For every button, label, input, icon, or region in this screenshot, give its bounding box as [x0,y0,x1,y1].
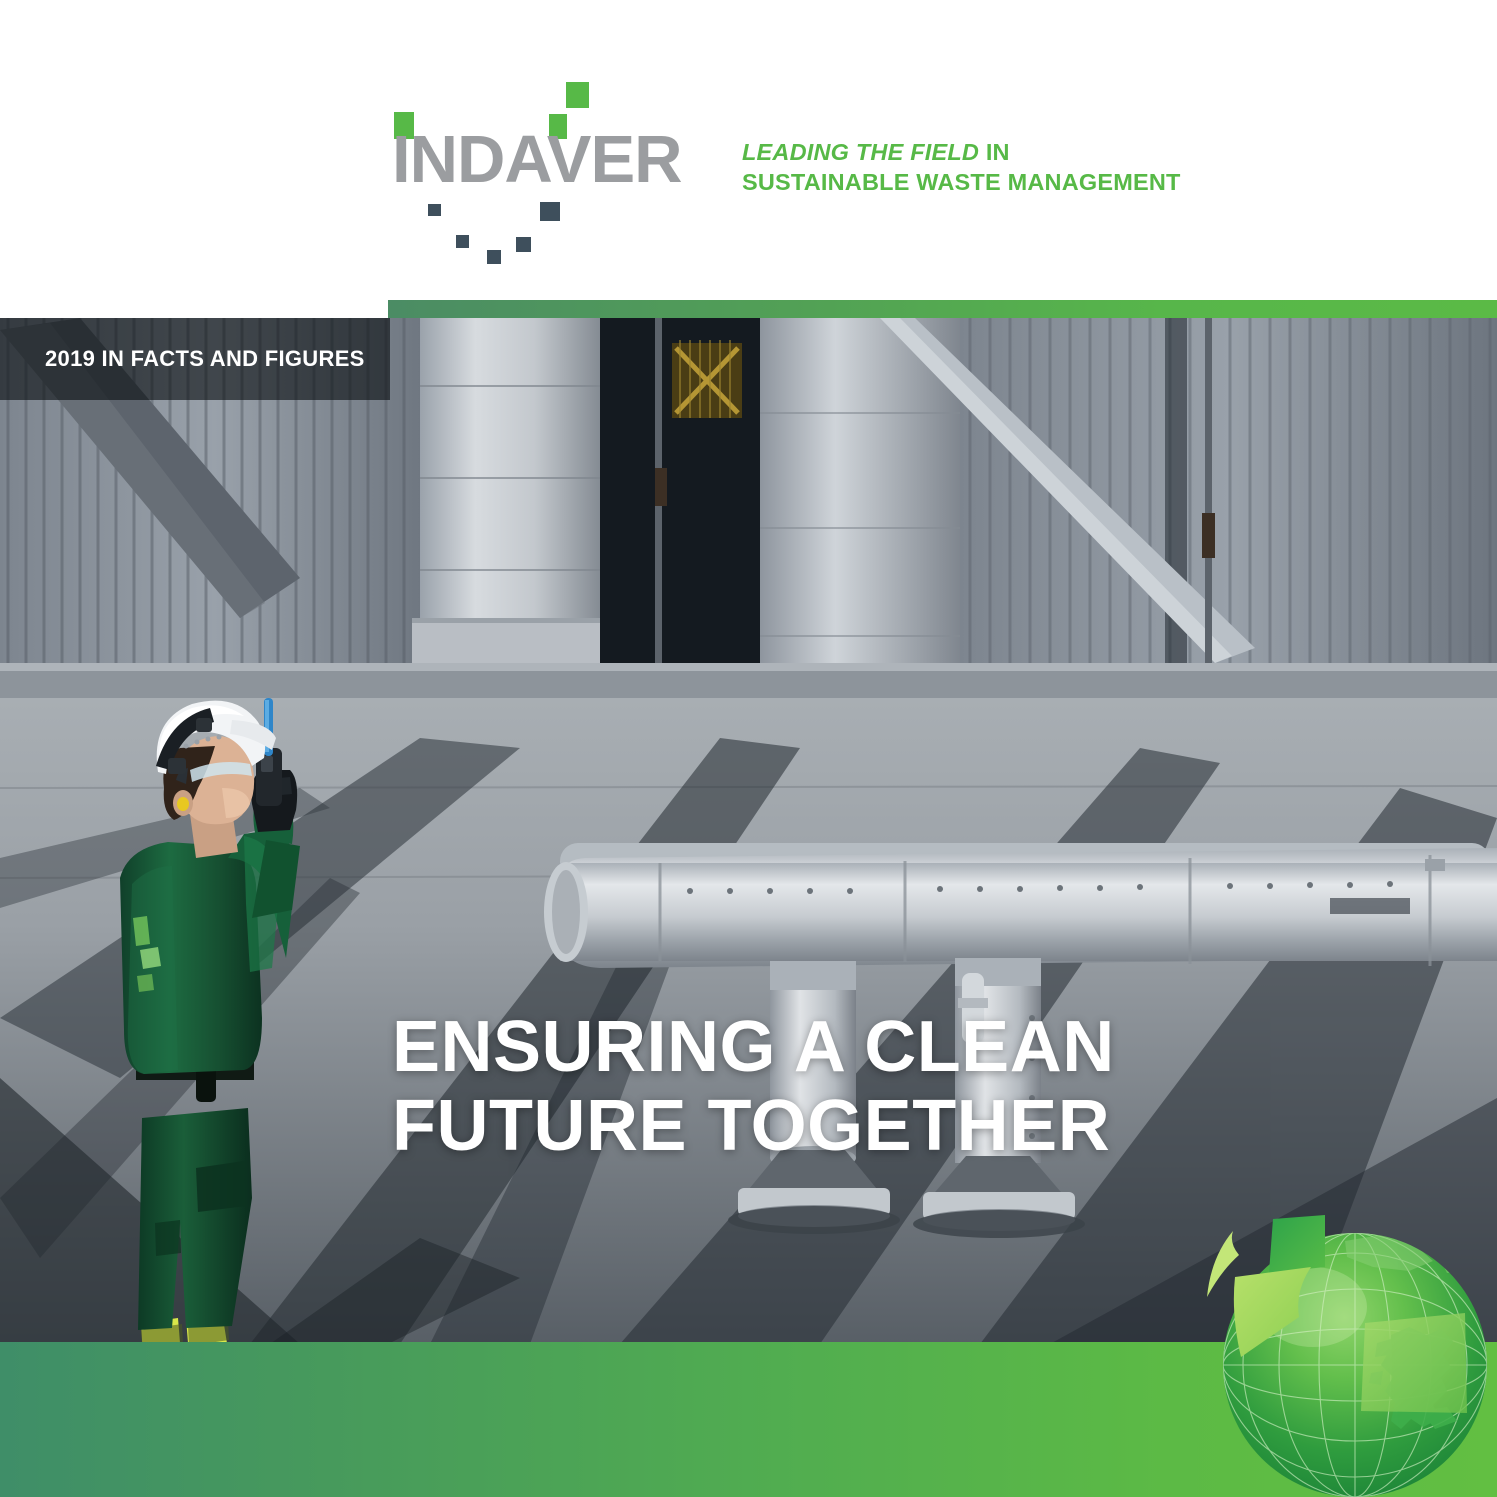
cover-photo [0,318,1497,1344]
footer-green-band [0,1342,1497,1497]
logo-dark-square-icon [428,204,441,216]
logo-wordmark: INDAVER [392,126,682,193]
cover-header: INDAVER LEADING THE FIELD IN SUSTAINABLE… [0,0,1497,300]
headline-line-1: ENSURING A CLEAN [392,1008,1192,1087]
tagline-italic-part: LEADING THE FIELD [742,139,979,165]
facts-and-figures-label: 2019 IN FACTS AND FIGURES [45,346,365,372]
logo-dark-square-icon [487,250,501,264]
industrial-scene-illustration [0,318,1497,1344]
headline-line-2: FUTURE TOGETHER [392,1087,1192,1166]
cover-headline: ENSURING A CLEAN FUTURE TOGETHER [392,1008,1192,1166]
logo-dark-square-icon [516,237,531,252]
report-cover: INDAVER LEADING THE FIELD IN SUSTAINABLE… [0,0,1497,1497]
facts-and-figures-banner: 2019 IN FACTS AND FIGURES [0,318,390,400]
brand-tagline: LEADING THE FIELD IN SUSTAINABLE WASTE M… [742,138,1181,197]
logo-dark-square-icon [540,202,560,221]
tagline-line-1: LEADING THE FIELD IN [742,138,1181,168]
tagline-line-2: SUSTAINABLE WASTE MANAGEMENT [742,168,1181,198]
indaver-logo[interactable]: INDAVER [392,82,702,257]
tagline-roman-part: IN [979,139,1010,165]
logo-green-square-icon [566,82,589,108]
green-accent-bar [388,300,1497,319]
logo-dark-square-icon [456,235,469,248]
